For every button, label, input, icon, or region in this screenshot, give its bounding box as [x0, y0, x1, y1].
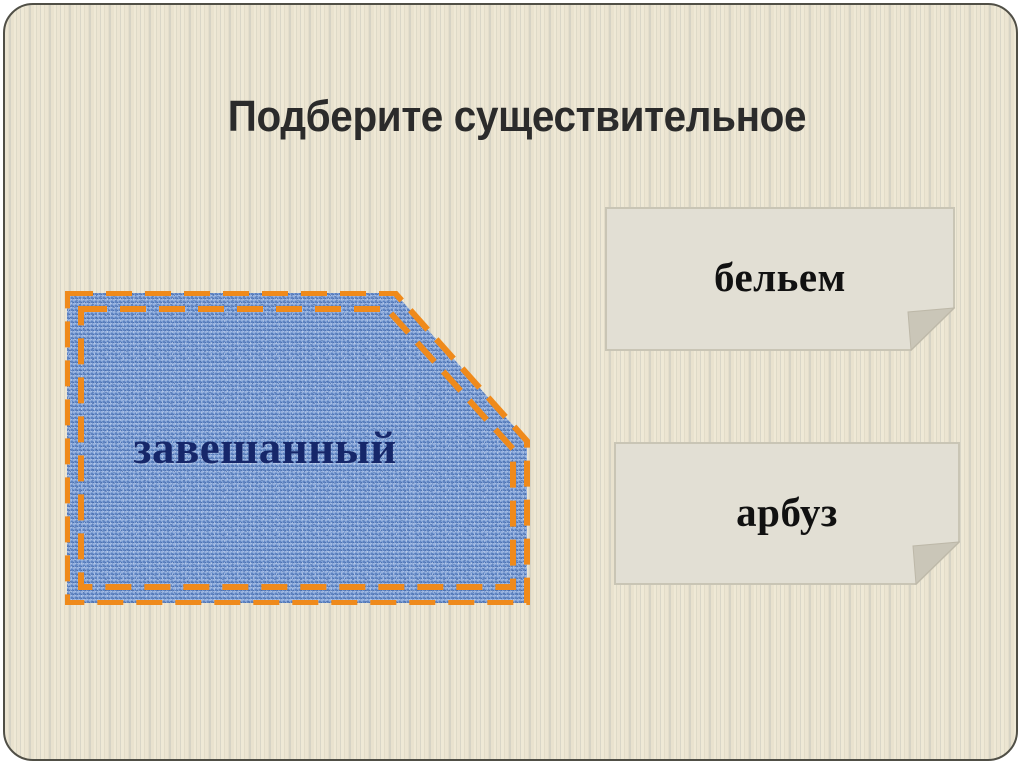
page-title: Подберите существительное — [46, 91, 988, 143]
adjective-tile[interactable]: завешанный — [65, 291, 531, 605]
slide-root: Подберите существительное — [0, 0, 1024, 767]
option-card-1[interactable]: бельем — [605, 207, 955, 351]
denim-patch-icon — [65, 291, 531, 605]
folded-note-icon — [614, 442, 960, 585]
option-card-2[interactable]: арбуз — [614, 442, 960, 585]
folded-note-icon — [605, 207, 955, 351]
slide-frame: Подберите существительное — [3, 3, 1018, 761]
